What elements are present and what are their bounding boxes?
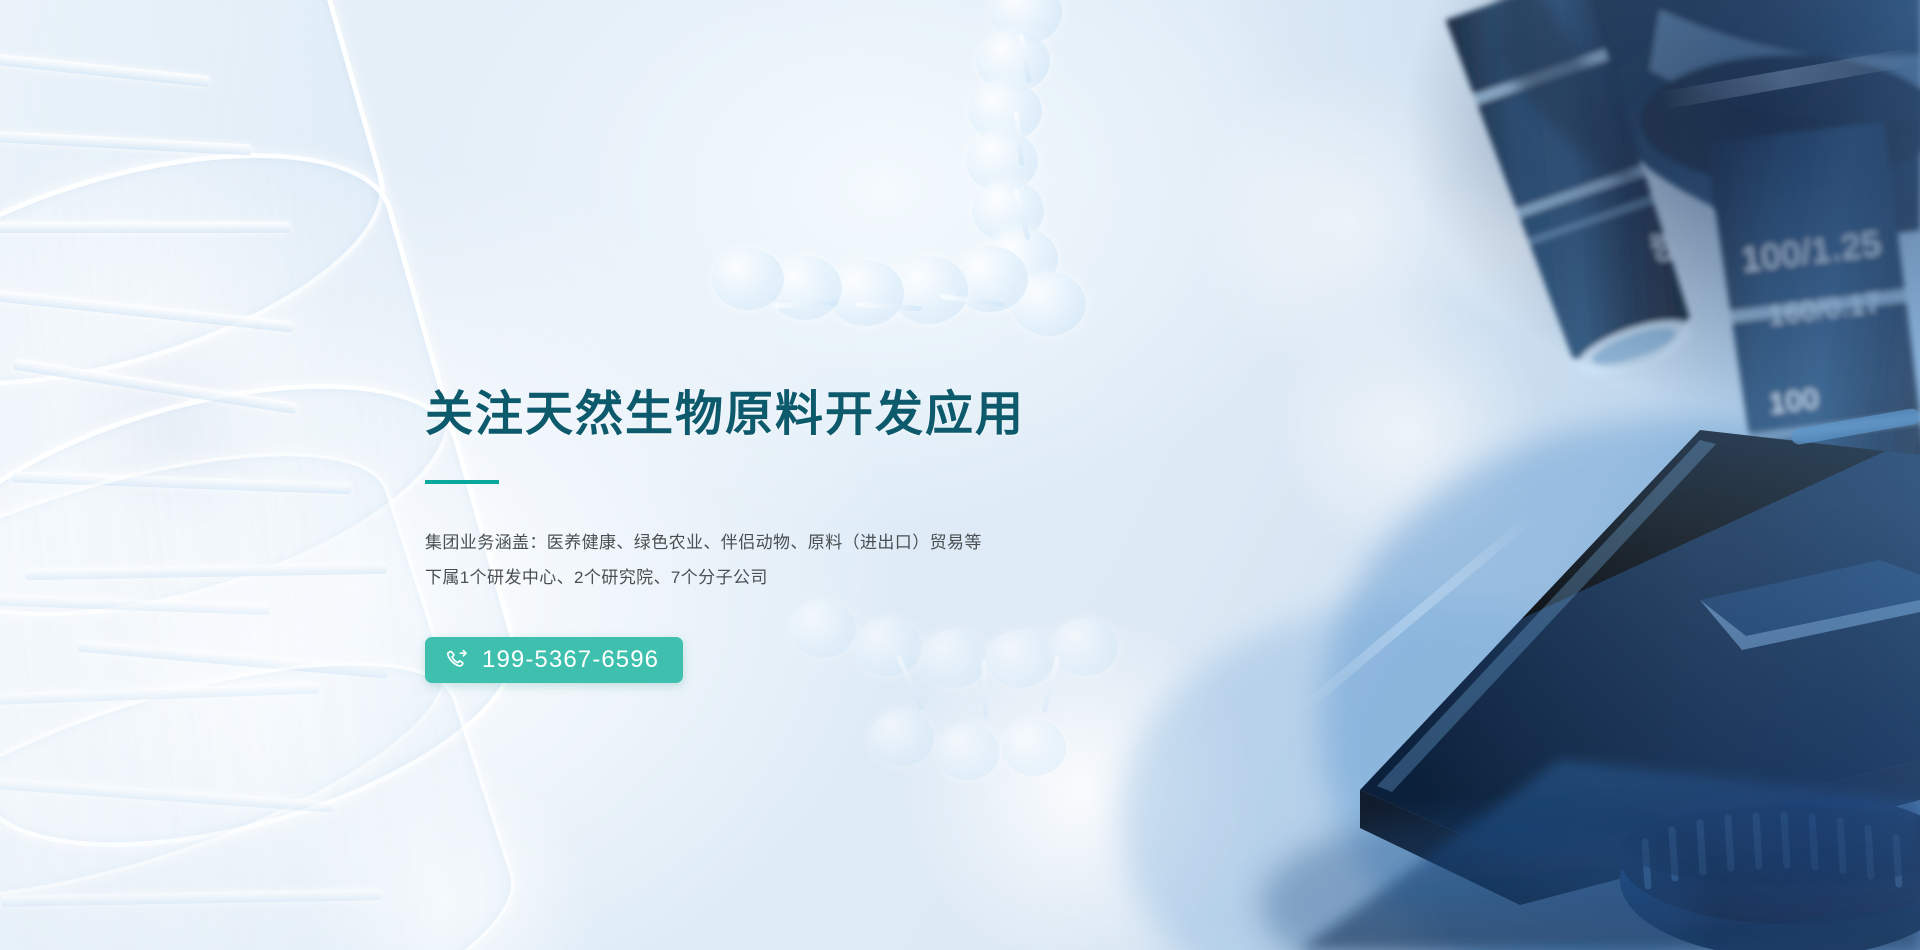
phone-number-label: 199-5367-6596 bbox=[482, 648, 659, 672]
hero-banner: 40 100/1.25 160/0.17 100 bbox=[0, 0, 1920, 950]
title-divider bbox=[425, 480, 499, 484]
hero-content: 关注天然生物原料开发应用 集团业务涵盖：医养健康、绿色农业、伴侣动物、原料（进出… bbox=[425, 388, 1245, 683]
hero-subtitle: 集团业务涵盖：医养健康、绿色农业、伴侣动物、原料（进出口）贸易等 下属1个研发中… bbox=[425, 526, 1245, 596]
subtitle-line-1: 集团业务涵盖：医养健康、绿色农业、伴侣动物、原料（进出口）贸易等 bbox=[425, 526, 1245, 561]
phone-cta-button[interactable]: 199-5367-6596 bbox=[425, 637, 683, 683]
subtitle-line-2: 下属1个研发中心、2个研究院、7个分子公司 bbox=[425, 561, 1245, 596]
phone-outgoing-icon bbox=[445, 648, 469, 672]
page-title: 关注天然生物原料开发应用 bbox=[425, 388, 1245, 442]
